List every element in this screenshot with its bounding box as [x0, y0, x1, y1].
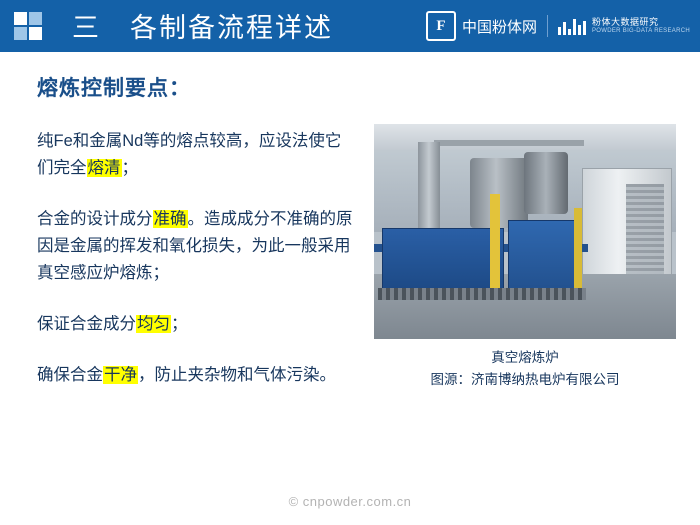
figure-caption: 真空熔炼炉 图源：济南博纳热电炉有限公司	[374, 347, 676, 391]
highlighted-text: 熔清	[87, 159, 122, 177]
paragraph: 保证合金成分均匀；	[37, 311, 357, 338]
paragraph: 纯Fe和金属Nd等的熔点较高，应设法使它们完全熔清；	[37, 128, 357, 182]
text-run: ，防止夹杂物和气体污染。	[138, 366, 336, 384]
brand-tagline-cn: 粉体大数据研究	[592, 17, 690, 27]
brand-tagline-en: POWDER BIG-DATA RESEARCH	[592, 28, 690, 35]
text-run: ；	[171, 315, 188, 333]
brand-logo: F 中国粉体网 粉体大数据研究 POWDER BIG-DATA RESEARCH	[426, 11, 690, 41]
paragraph: 确保合金干净，防止夹杂物和气体污染。	[37, 362, 357, 389]
text-run: ；	[122, 159, 139, 177]
brand-tagline: 粉体大数据研究 POWDER BIG-DATA RESEARCH	[592, 17, 690, 34]
paragraph: 合金的设计成分准确。造成成分不准确的原因是金属的挥发和氧化损失，为此一般采用真空…	[37, 206, 357, 287]
vacuum-melting-furnace-photo	[374, 124, 676, 339]
brand-name-cn: 中国粉体网	[462, 16, 537, 37]
highlighted-text: 干净	[103, 366, 138, 384]
body-text-column: 纯Fe和金属Nd等的熔点较高，应设法使它们完全熔清； 合金的设计成分准确。造成成…	[37, 128, 357, 389]
page-title: 三 各制备流程详述	[72, 6, 333, 45]
text-run: 确保合金	[37, 366, 103, 384]
figure-caption-line2: 图源：济南博纳热电炉有限公司	[374, 369, 676, 391]
section-subtitle: 熔炼控制要点：	[37, 72, 191, 102]
highlighted-text: 准确	[153, 210, 188, 228]
slide-header-bar: 三 各制备流程详述 F 中国粉体网 粉体大数据研究 POWDER BIG-DAT…	[0, 0, 700, 52]
figure-block: 真空熔炼炉 图源：济南博纳热电炉有限公司	[374, 124, 676, 391]
brand-mark-icon: F	[426, 11, 456, 41]
vertical-divider-icon	[547, 15, 548, 37]
four-squares-logo-icon	[14, 12, 44, 40]
highlighted-text: 均匀	[136, 315, 171, 333]
text-run: 纯Fe和金属Nd等的熔点较高，应设法使它们完全	[37, 132, 341, 177]
figure-caption-line1: 真空熔炼炉	[374, 347, 676, 369]
text-run: 保证合金成分	[37, 315, 136, 333]
text-run: 合金的设计成分	[37, 210, 153, 228]
bar-chart-icon	[558, 17, 586, 35]
watermark: © cnpowder.com.cn	[0, 494, 700, 509]
